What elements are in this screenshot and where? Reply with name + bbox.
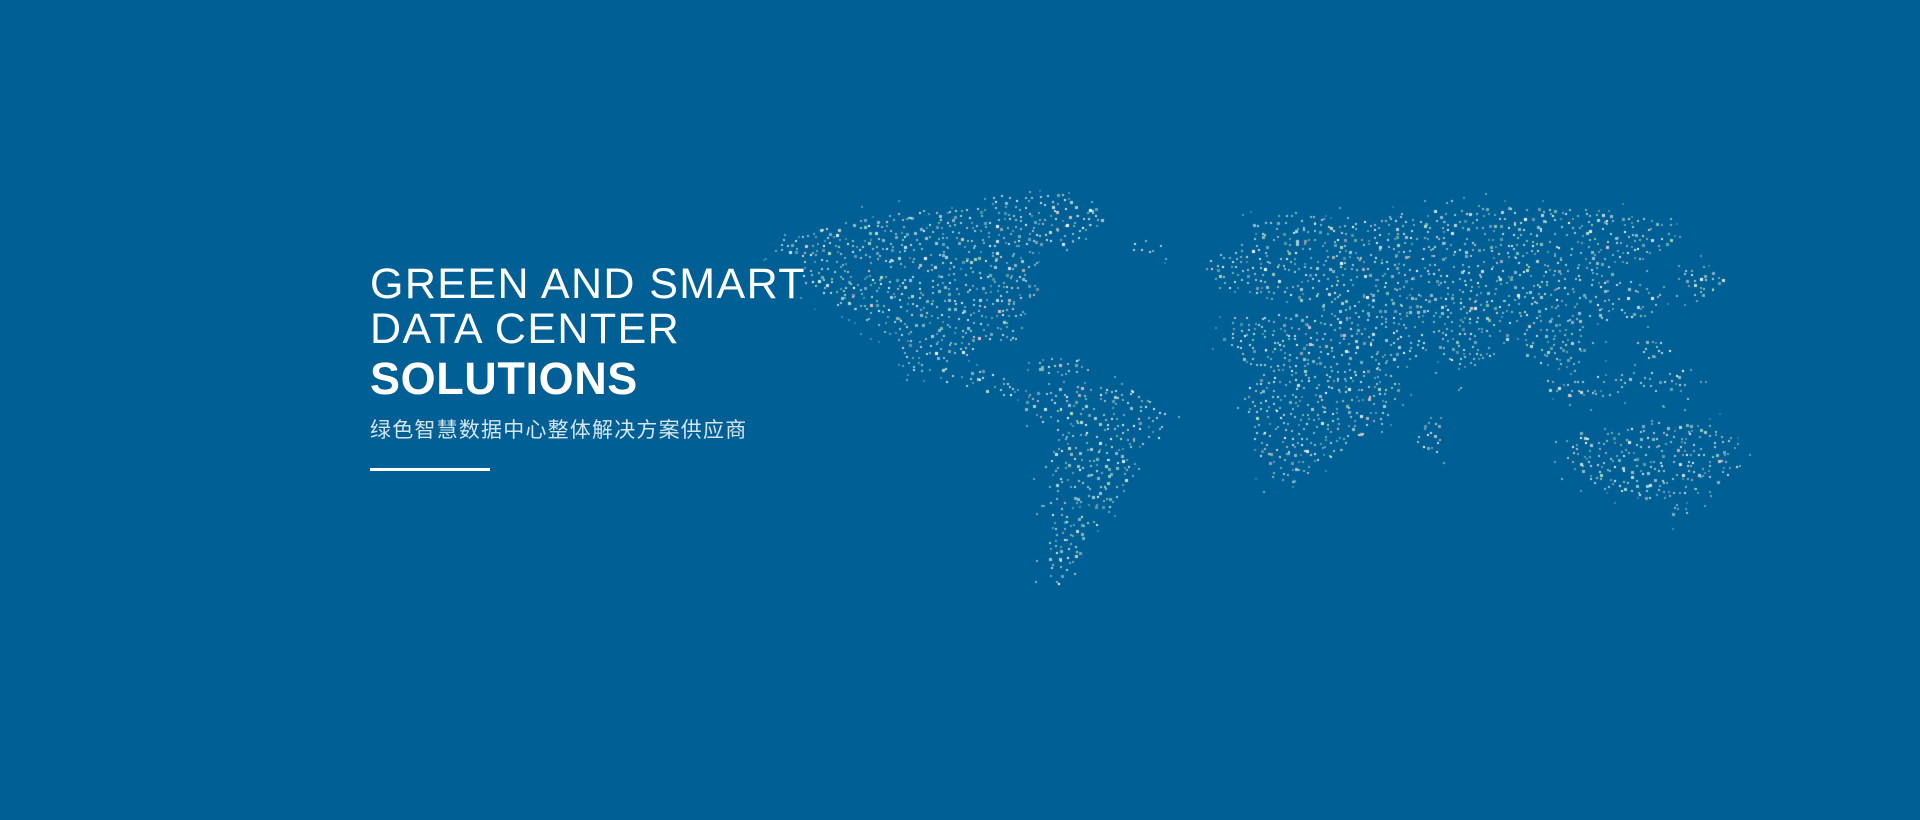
hero-banner: GREEN AND SMART DATA CENTER SOLUTIONS 绿色… xyxy=(0,0,1920,820)
headline-line-3: SOLUTIONS xyxy=(370,354,990,404)
hero-text-block: GREEN AND SMART DATA CENTER SOLUTIONS 绿色… xyxy=(370,262,990,471)
subtitle-chinese: 绿色智慧数据中心整体解决方案供应商 xyxy=(370,417,990,445)
headline-line-1: GREEN AND SMART xyxy=(370,262,990,307)
accent-rule xyxy=(370,468,490,471)
headline-line-2: DATA CENTER xyxy=(370,307,990,352)
